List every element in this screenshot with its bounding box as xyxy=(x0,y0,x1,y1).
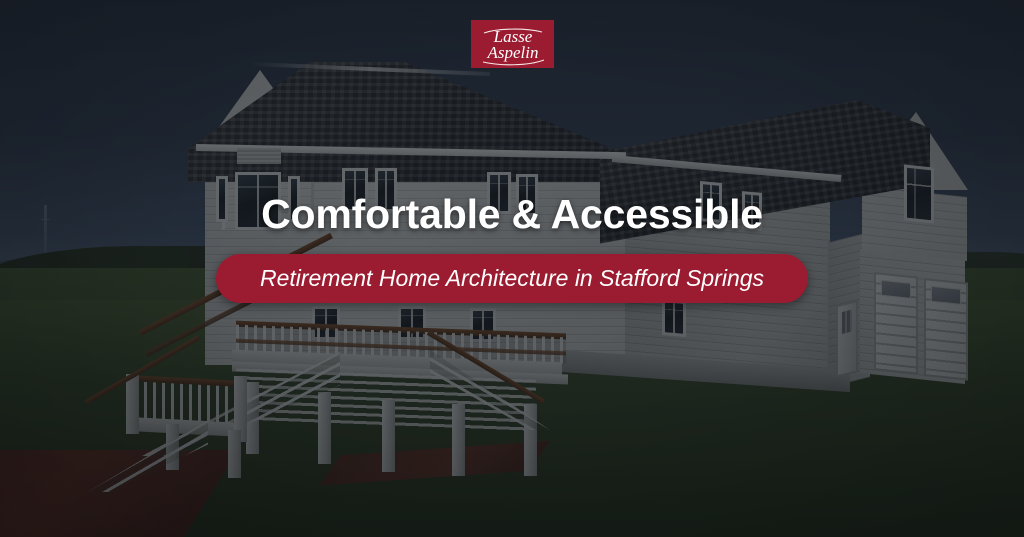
page-title: Comfortable & Accessible xyxy=(0,190,1024,238)
subtitle-badge: Retirement Home Architecture in Stafford… xyxy=(216,254,808,303)
svg-text:Aspelin: Aspelin xyxy=(486,43,538,62)
hero-content: Lasse Aspelin Comfortable & Accessible R… xyxy=(0,0,1024,537)
lasse-aspelin-wordmark-icon: Lasse Aspelin xyxy=(474,21,552,67)
brand-logo[interactable]: Lasse Aspelin xyxy=(471,20,554,68)
hero-banner: Lasse Aspelin Comfortable & Accessible R… xyxy=(0,0,1024,537)
subtitle-container: Retirement Home Architecture in Stafford… xyxy=(0,254,1024,303)
